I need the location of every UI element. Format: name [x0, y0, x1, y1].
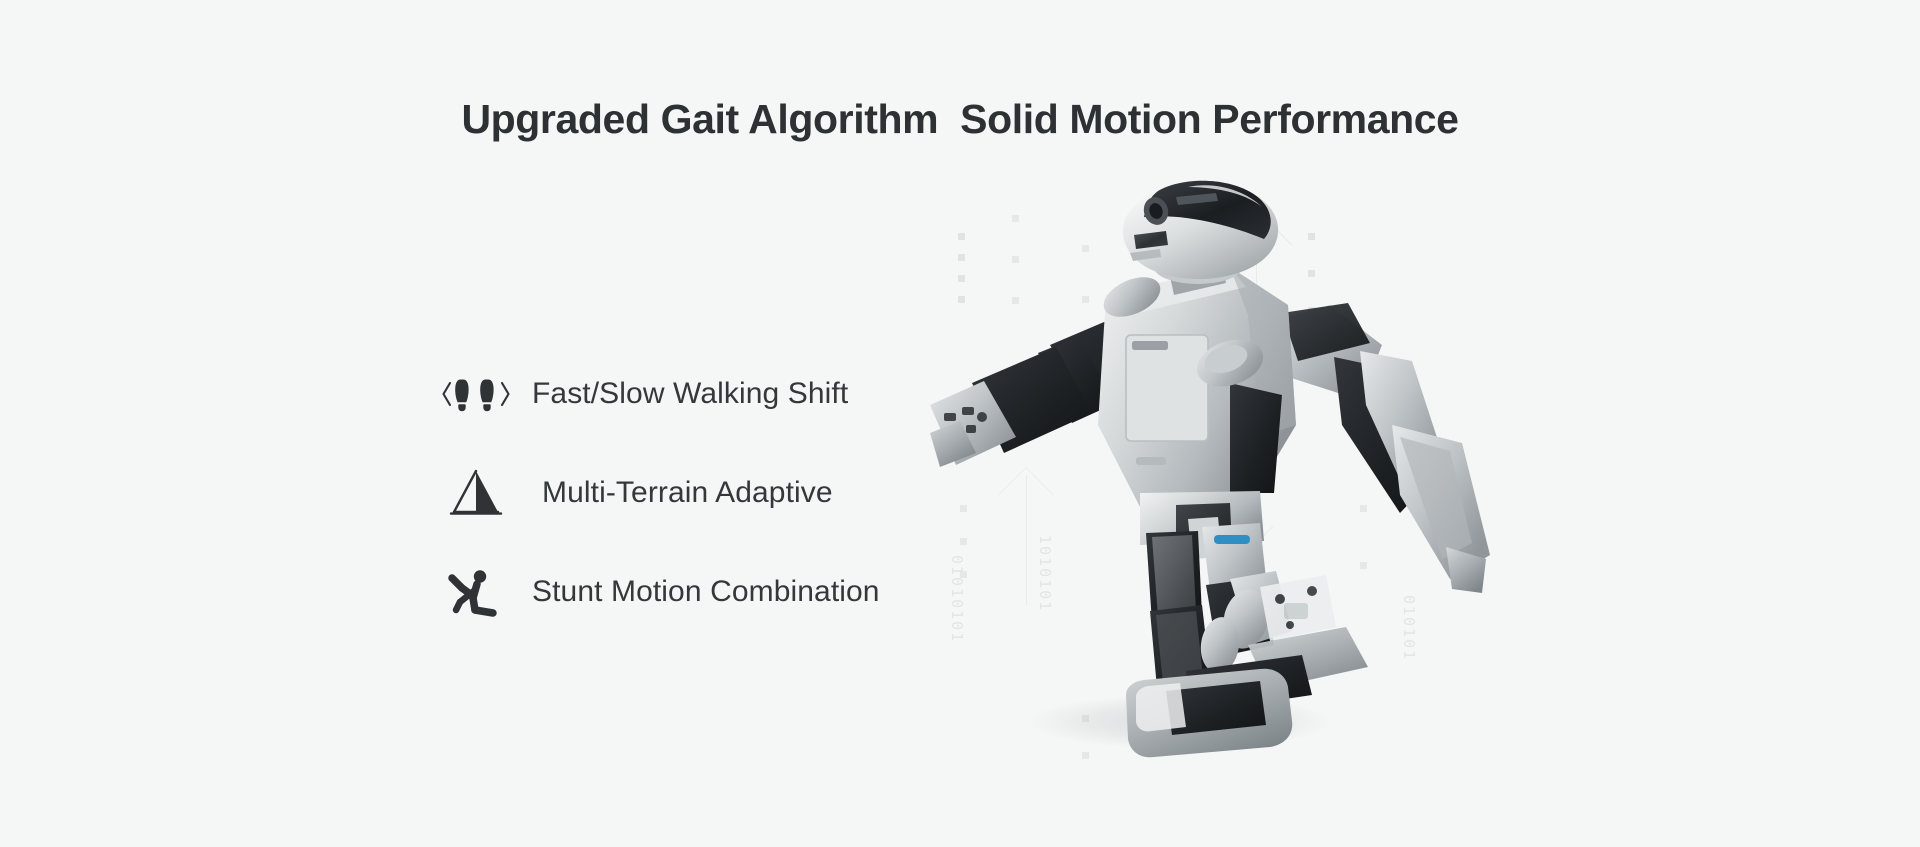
robot-illustration: 01010101010 01010101 1010101 010101 — [930, 175, 1490, 795]
feature-label: Multi-Terrain Adaptive — [542, 476, 833, 510]
footprints-walking-icon — [440, 371, 518, 417]
feature-list: Fast/Slow Walking Shift Multi-Terrain Ad… — [440, 365, 920, 662]
mountain-terrain-icon — [440, 467, 518, 519]
feature-item-fast-slow-walking[interactable]: Fast/Slow Walking Shift — [440, 365, 920, 423]
feature-label: Stunt Motion Combination — [532, 575, 880, 609]
humanoid-robot-figure — [930, 175, 1490, 795]
feature-item-stunt-motion[interactable]: Stunt Motion Combination — [440, 563, 920, 621]
slide-root: Upgraded Gait Algorithm Solid Motion Per… — [0, 0, 1920, 847]
feature-label: Fast/Slow Walking Shift — [532, 377, 848, 411]
feature-item-multi-terrain[interactable]: Multi-Terrain Adaptive — [440, 464, 920, 522]
stunt-kick-figure-icon — [440, 566, 518, 618]
page-title: Upgraded Gait Algorithm Solid Motion Per… — [0, 97, 1920, 142]
